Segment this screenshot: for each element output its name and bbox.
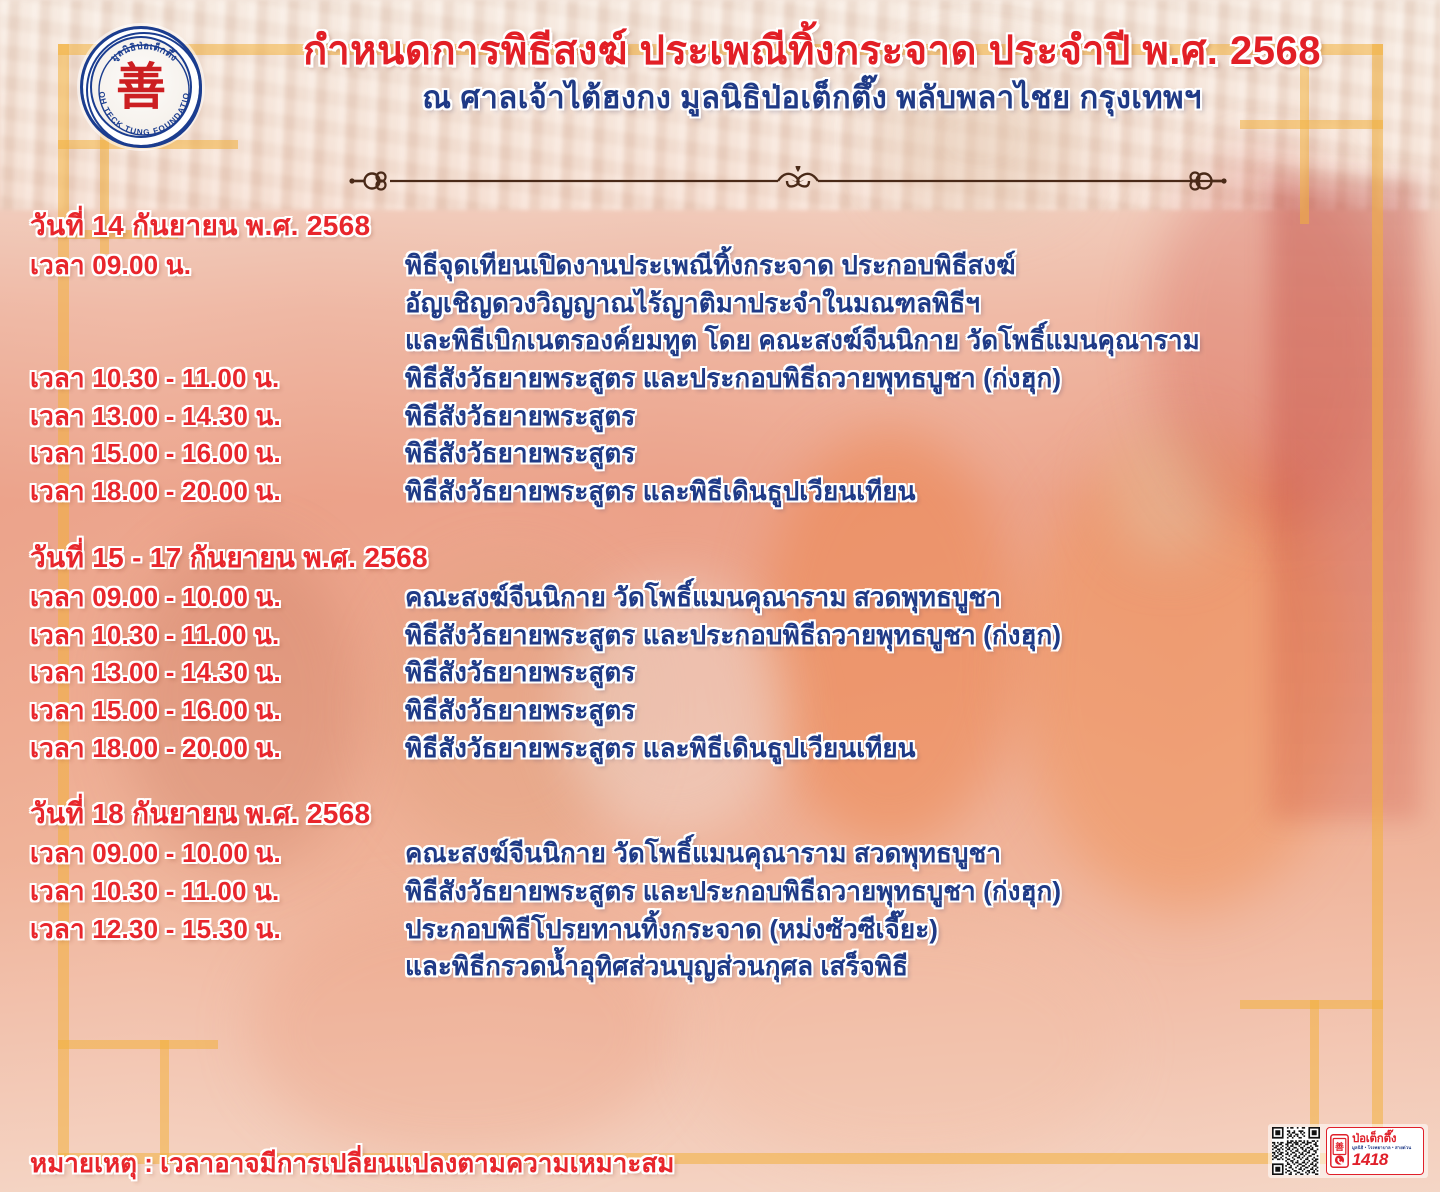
schedule-row: เวลา 18.00 - 20.00 น. พิธีสังวัธยายพระสู…: [0, 473, 1440, 511]
description-line: พิธีสังวัธยายพระสูตร: [405, 435, 1440, 473]
schedule-description: ประกอบพิธีโปรยทานทิ้งกระจาด (หม่งซัวซีเจ…: [405, 911, 1440, 986]
schedule-row: เวลา 10.30 - 11.00 น. พิธีสังวัธยายพระสู…: [0, 617, 1440, 655]
hotline-panel[interactable]: 善 ป่อเต็กตึ๊ง มูลนิธิ • โรงพยาบาล • สายด…: [1326, 1127, 1424, 1175]
mobile-phone-icon: 善: [1330, 1134, 1349, 1168]
description-line: พิธีสังวัธยายพระสูตร: [405, 654, 1440, 692]
schedule-time: เวลา 12.30 - 15.30 น.: [30, 911, 405, 949]
description-line: คณะสงฆ์จีนนิกาย วัดโพธิ์แมนคุณาราม สวดพุ…: [405, 835, 1440, 873]
hotline-brand: ป่อเต็กตึ๊ง: [1352, 1134, 1420, 1146]
description-line: และพิธีเบิกเนตรองค์ยมทูต โดย คณะสงฆ์จีนน…: [405, 322, 1440, 360]
schedule-description: พิธีสังวัธยายพระสูตร: [405, 398, 1440, 436]
day-heading: วันที่ 15 - 17 กันยายน พ.ศ. 2568: [0, 537, 1440, 579]
schedule-description: พิธีสังวัธยายพระสูตร และพิธีเดินธูปเวียน…: [405, 730, 1440, 768]
schedule-description: พิธีสังวัธยายพระสูตร และประกอบพิธีถวายพุ…: [405, 617, 1440, 655]
description-line: ประกอบพิธีโปรยทานทิ้งกระจาด (หม่งซัวซีเจ…: [405, 911, 1440, 949]
schedule-row: เวลา 13.00 - 14.30 น. พิธีสังวัธยายพระสู…: [0, 398, 1440, 436]
hotline-text-group: ป่อเต็กตึ๊ง มูลนิธิ • โรงพยาบาล • สายด่ว…: [1352, 1134, 1420, 1169]
schedule-row: เวลา 09.00 - 10.00 น. คณะสงฆ์จีนนิกาย วั…: [0, 579, 1440, 617]
frame-accent: [58, 1040, 218, 1049]
schedule-description: คณะสงฆ์จีนนิกาย วัดโพธิ์แมนคุณาราม สวดพุ…: [405, 835, 1440, 873]
description-line: คณะสงฆ์จีนนิกาย วัดโพธิ์แมนคุณาราม สวดพุ…: [405, 579, 1440, 617]
schedule-description: พิธีสังวัธยายพระสูตร และประกอบพิธีถวายพุ…: [405, 360, 1440, 398]
poster-header: มูลนิธิป่อเต็กตึ๊ง POH TECK TUNG FOUNDAT…: [0, 0, 1440, 205]
qr-code-icon[interactable]: [1272, 1127, 1320, 1175]
schedule-description: พิธีสังวัธยายพระสูตร: [405, 435, 1440, 473]
page-title: กำหนดการพิธีสงฆ์ ประเพณีทิ้งกระจาด ประจำ…: [212, 28, 1412, 75]
qr-hotline-badge[interactable]: 善 ป่อเต็กตึ๊ง มูลนิธิ • โรงพยาบาล • สายด…: [1268, 1124, 1428, 1178]
poster-root: มูลนิธิป่อเต็กตึ๊ง POH TECK TUNG FOUNDAT…: [0, 0, 1440, 1192]
description-line: พิธีสังวัธยายพระสูตร: [405, 398, 1440, 436]
description-line: พิธีสังวัธยายพระสูตร และพิธีเดินธูปเวียน…: [405, 473, 1440, 511]
schedule-time: เวลา 13.00 - 14.30 น.: [30, 398, 405, 436]
schedule-description: พิธีสังวัธยายพระสูตร: [405, 692, 1440, 730]
schedule-body: วันที่ 14 กันยายน พ.ศ. 2568 เวลา 09.00 น…: [0, 205, 1440, 1012]
schedule-time: เวลา 13.00 - 14.30 น.: [30, 654, 405, 692]
description-line: พิธีสังวัธยายพระสูตร และพิธีเดินธูปเวียน…: [405, 730, 1440, 768]
logo-chinese-character: 善: [116, 62, 166, 112]
schedule-time: เวลา 09.00 - 10.00 น.: [30, 579, 405, 617]
day-heading: วันที่ 14 กันยายน พ.ศ. 2568: [0, 205, 1440, 247]
title-group: กำหนดการพิธีสงฆ์ ประเพณีทิ้งกระจาด ประจำ…: [212, 28, 1412, 116]
schedule-time: เวลา 18.00 - 20.00 น.: [30, 473, 405, 511]
day-block: วันที่ 14 กันยายน พ.ศ. 2568 เวลา 09.00 น…: [0, 205, 1440, 511]
description-line: พิธีจุดเทียนเปิดงานประเพณีทิ้งกระจาด ประ…: [405, 247, 1440, 285]
schedule-time: เวลา 18.00 - 20.00 น.: [30, 730, 405, 768]
schedule-description: พิธีสังวัธยายพระสูตร และพิธีเดินธูปเวียน…: [405, 473, 1440, 511]
schedule-time: เวลา 09.00 น.: [30, 247, 405, 285]
description-line: พิธีสังวัธยายพระสูตร และประกอบพิธีถวายพุ…: [405, 617, 1440, 655]
schedule-description: คณะสงฆ์จีนนิกาย วัดโพธิ์แมนคุณาราม สวดพุ…: [405, 579, 1440, 617]
schedule-row: เวลา 10.30 - 11.00 น. พิธีสังวัธยายพระสู…: [0, 360, 1440, 398]
hotline-number: 1418: [1352, 1151, 1420, 1168]
description-line: พิธีสังวัธยายพระสูตร และประกอบพิธีถวายพุ…: [405, 360, 1440, 398]
schedule-time: เวลา 10.30 - 11.00 น.: [30, 617, 405, 655]
schedule-row: เวลา 13.00 - 14.30 น. พิธีสังวัธยายพระสู…: [0, 654, 1440, 692]
ornamental-divider-icon: [348, 166, 1228, 196]
schedule-description: พิธีสังวัธยายพระสูตร: [405, 654, 1440, 692]
day-block: วันที่ 18 กันยายน พ.ศ. 2568 เวลา 09.00 -…: [0, 793, 1440, 986]
description-line: อัญเชิญดวงวิญญาณไร้ญาติมาประจำในมณฑลพิธี…: [405, 285, 1440, 323]
schedule-description: พิธีจุดเทียนเปิดงานประเพณีทิ้งกระจาด ประ…: [405, 247, 1440, 360]
description-line: พิธีสังวัธยายพระสูตร: [405, 692, 1440, 730]
schedule-time: เวลา 10.30 - 11.00 น.: [30, 873, 405, 911]
footer-note: หมายเหตุ : เวลาอาจมีการเปลี่ยนแปลงตามควา…: [30, 1143, 674, 1184]
foundation-logo-seal: มูลนิธิป่อเต็กตึ๊ง POH TECK TUNG FOUNDAT…: [80, 26, 202, 148]
schedule-time: เวลา 10.30 - 11.00 น.: [30, 360, 405, 398]
schedule-row: เวลา 10.30 - 11.00 น. พิธีสังวัธยายพระสู…: [0, 873, 1440, 911]
schedule-time: เวลา 15.00 - 16.00 น.: [30, 435, 405, 473]
description-line: และพิธีกรวดน้ำอุทิศส่วนบุญส่วนกุศล เสร็จ…: [405, 948, 1440, 986]
schedule-time: เวลา 09.00 - 10.00 น.: [30, 835, 405, 873]
schedule-time: เวลา 15.00 - 16.00 น.: [30, 692, 405, 730]
schedule-row: เวลา 18.00 - 20.00 น. พิธีสังวัธยายพระสู…: [0, 730, 1440, 768]
day-heading: วันที่ 18 กันยายน พ.ศ. 2568: [0, 793, 1440, 835]
schedule-row: เวลา 09.00 น. พิธีจุดเทียนเปิดงานประเพณี…: [0, 247, 1440, 360]
schedule-row: เวลา 12.30 - 15.30 น. ประกอบพิธีโปรยทานท…: [0, 911, 1440, 986]
description-line: พิธีสังวัธยายพระสูตร และประกอบพิธีถวายพุ…: [405, 873, 1440, 911]
schedule-row: เวลา 15.00 - 16.00 น. พิธีสังวัธยายพระสู…: [0, 435, 1440, 473]
svg-text:善: 善: [1335, 1141, 1344, 1153]
page-subtitle: ณ ศาลเจ้าไต้ฮงกง มูลนิธิป่อเต็กตึ๊ง พลับ…: [212, 79, 1412, 116]
day-block: วันที่ 15 - 17 กันยายน พ.ศ. 2568 เวลา 09…: [0, 537, 1440, 767]
schedule-description: พิธีสังวัธยายพระสูตร และประกอบพิธีถวายพุ…: [405, 873, 1440, 911]
schedule-row: เวลา 15.00 - 16.00 น. พิธีสังวัธยายพระสู…: [0, 692, 1440, 730]
schedule-row: เวลา 09.00 - 10.00 น. คณะสงฆ์จีนนิกาย วั…: [0, 835, 1440, 873]
